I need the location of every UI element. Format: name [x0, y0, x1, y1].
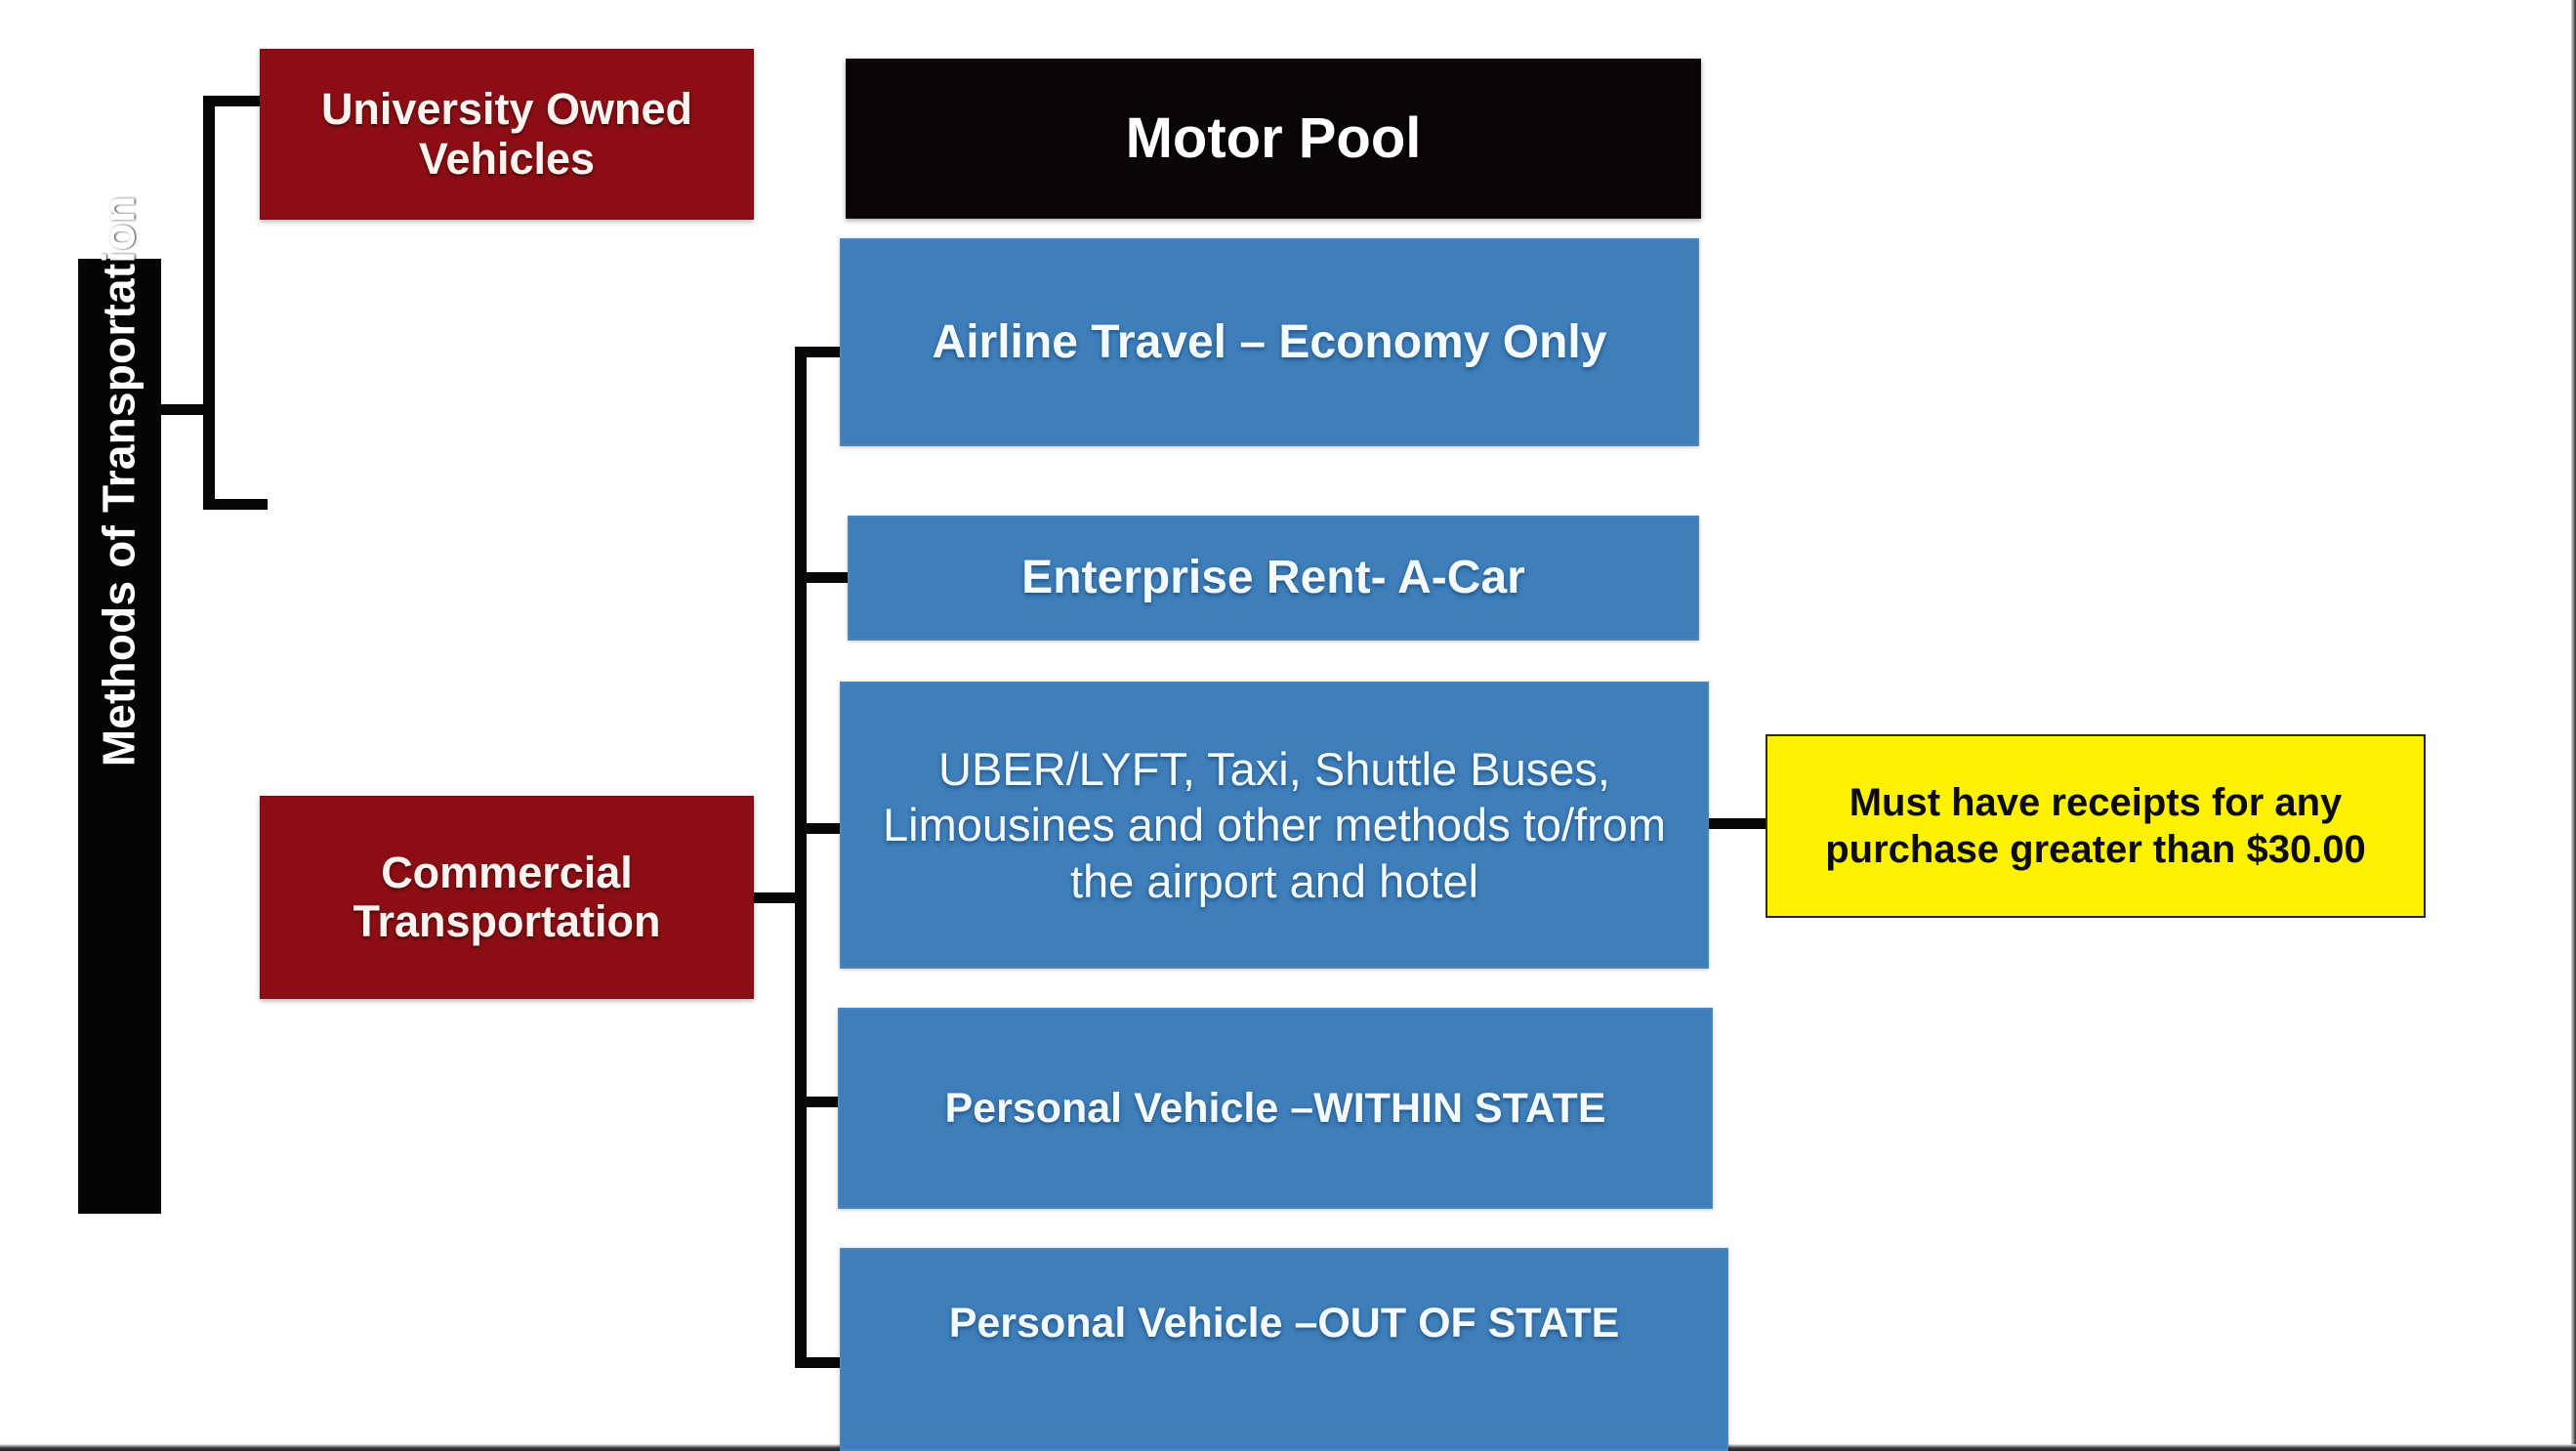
connector-to-enterprise [795, 572, 855, 583]
node-ride-share-and-shuttles[interactable]: UBER/LYFT, Taxi, Shuttle Buses, Limousin… [840, 682, 1709, 969]
connector-left-trunk [203, 96, 215, 510]
node-airline-travel-label: Airline Travel – Economy Only [841, 316, 1698, 369]
node-personal-vehicle-within-state[interactable]: Personal Vehicle –WITHIN STATE [838, 1008, 1713, 1209]
connector-right-trunk [795, 347, 807, 1368]
node-root-label: Methods of Transportation [95, 695, 145, 776]
node-enterprise-rent-a-car-label: Enterprise Rent- A-Car [849, 552, 1698, 604]
node-motor-pool[interactable]: Motor Pool [846, 59, 1701, 219]
node-ride-share-label: UBER/LYFT, Taxi, Shuttle Buses, Limousin… [841, 741, 1708, 909]
node-university-owned-label: University Owned Vehicles [261, 85, 753, 184]
connector-to-commercial [203, 499, 268, 510]
node-enterprise-rent-a-car[interactable]: Enterprise Rent- A-Car [848, 516, 1699, 641]
connector-ride-share-to-receipts [1701, 818, 1773, 829]
node-commercial-transportation[interactable]: Commercial Transportation [260, 796, 754, 999]
node-methods-of-transportation[interactable]: Methods of Transportation [78, 259, 161, 1214]
node-airline-travel[interactable]: Airline Travel – Economy Only [840, 238, 1699, 446]
node-personal-vehicle-out-of-state[interactable]: Personal Vehicle –OUT OF STATE [840, 1248, 1728, 1451]
node-personal-vehicle-out-of-state-label: Personal Vehicle –OUT OF STATE [841, 1300, 1727, 1347]
node-commercial-transportation-label: Commercial Transportation [261, 849, 753, 947]
connector-to-university-owned [203, 96, 268, 106]
node-personal-vehicle-within-state-label: Personal Vehicle –WITHIN STATE [839, 1085, 1712, 1132]
node-university-owned-vehicles[interactable]: University Owned Vehicles [260, 49, 754, 220]
callout-receipts-note-label: Must have receipts for any purchase grea… [1767, 779, 2424, 873]
node-motor-pool-label: Motor Pool [847, 107, 1700, 171]
diagram-canvas: Methods of Transportation University Own… [0, 0, 2576, 1451]
page-border-right [2571, 0, 2576, 1451]
callout-receipts-note[interactable]: Must have receipts for any purchase grea… [1766, 734, 2426, 918]
